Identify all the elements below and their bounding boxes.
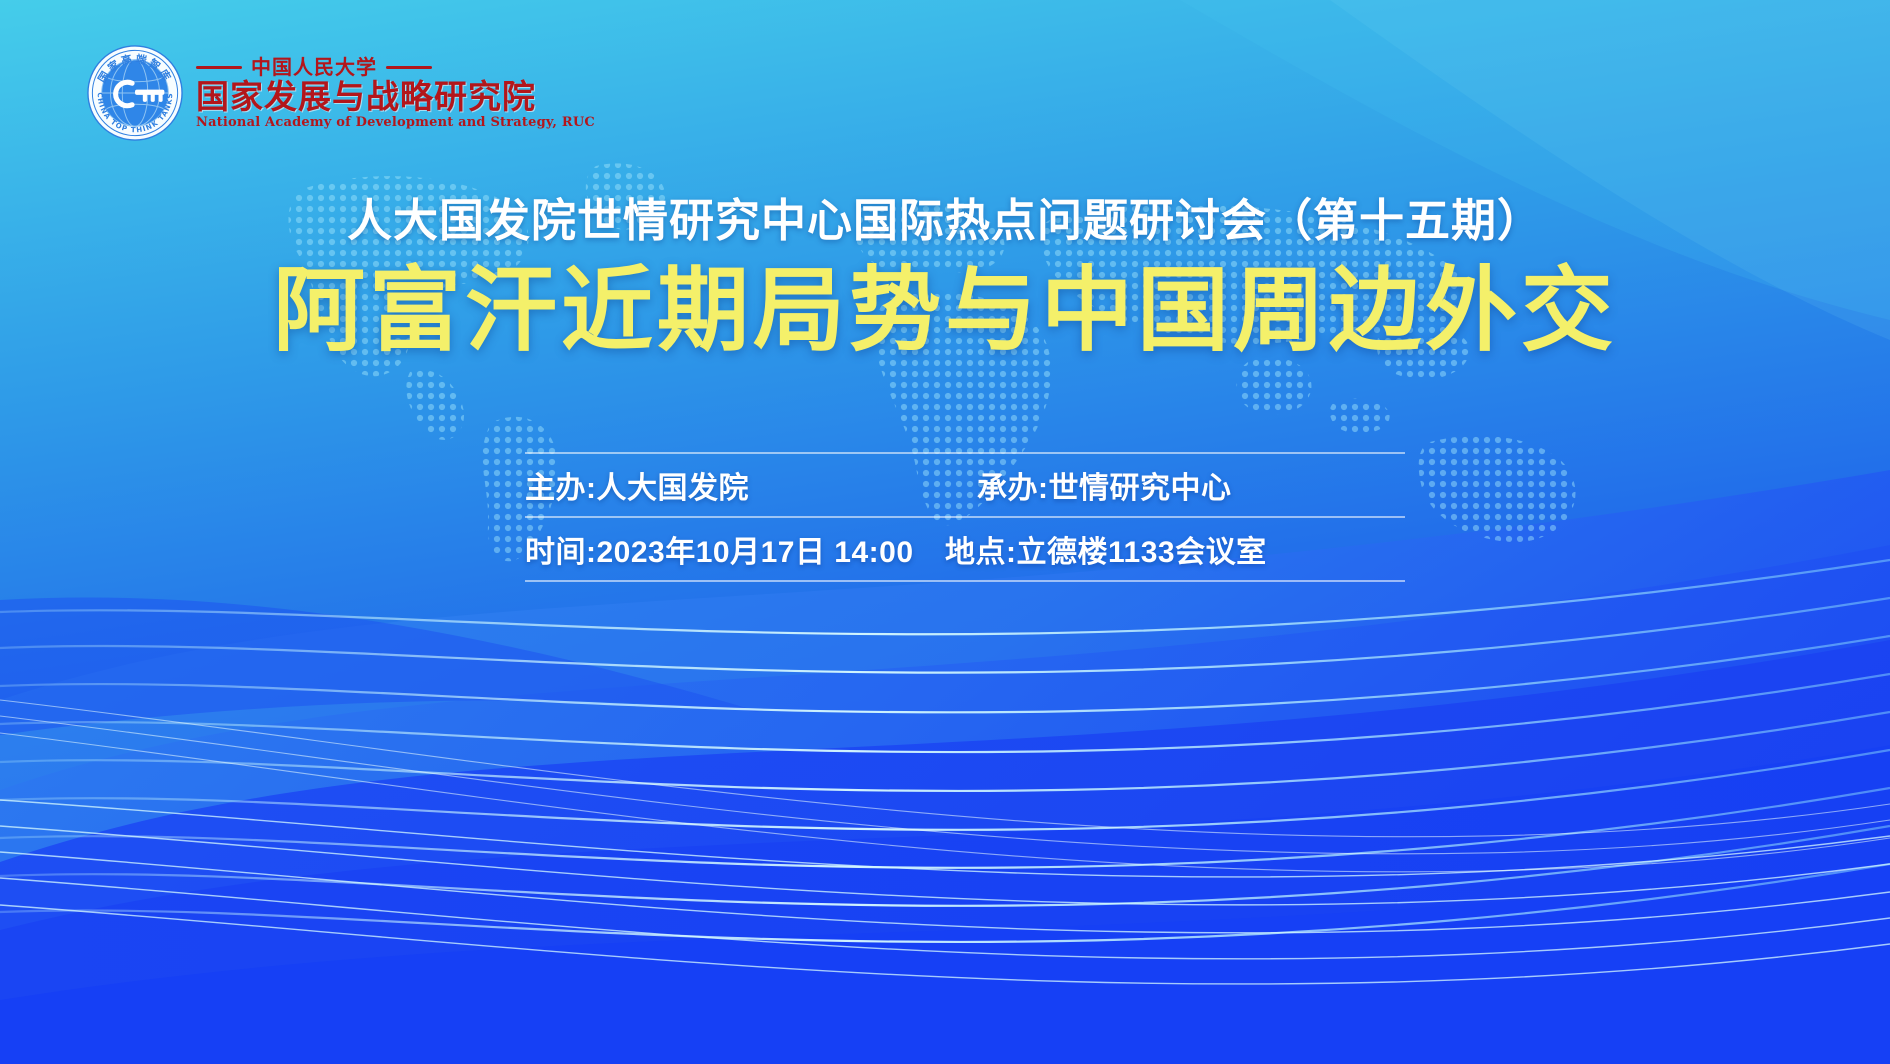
event-location: 地点:立德楼1133会议室 — [945, 527, 1405, 571]
page-title: 阿富汗近期局势与中国周边外交 — [0, 262, 1890, 361]
event-poster: 国家高端智库 CHINA TOP THINK TANKS 中国人民大学 国家发展… — [0, 0, 1890, 1064]
co-host-organization: 承办:世情研究中心 — [977, 463, 1405, 507]
logo-rule-right — [386, 66, 432, 69]
info-bottom-rule — [525, 580, 1405, 582]
series-title: 人大国发院世情研究中心国际热点问题研讨会（第十五期） — [0, 196, 1890, 246]
logo-rule-left — [196, 66, 242, 69]
logo-text-block: 中国人民大学 国家发展与战略研究院 National Academy of De… — [196, 57, 595, 129]
logo-university-name: 中国人民大学 — [251, 57, 377, 77]
logo-institute-name: 国家发展与战略研究院 — [196, 80, 595, 113]
organizers-row: 主办:人大国发院 承办:世情研究中心 — [525, 452, 1405, 518]
host-organization: 主办:人大国发院 — [525, 463, 977, 507]
logo-institute-name-en: National Academy of Development and Stra… — [196, 116, 595, 129]
event-time: 时间:2023年10月17日 14:00 — [525, 527, 945, 571]
headline-block: 人大国发院世情研究中心国际热点问题研讨会（第十五期） 阿富汗近期局势与中国周边外… — [0, 196, 1890, 361]
logo-university-line: 中国人民大学 — [196, 57, 595, 77]
china-top-think-tanks-emblem-icon: 国家高端智库 CHINA TOP THINK TANKS — [86, 44, 184, 142]
time-location-row: 时间:2023年10月17日 14:00 地点:立德楼1133会议室 — [525, 518, 1405, 580]
event-details: 主办:人大国发院 承办:世情研究中心 时间:2023年10月17日 14:00 … — [525, 452, 1405, 582]
organization-logo: 国家高端智库 CHINA TOP THINK TANKS 中国人民大学 国家发展… — [86, 44, 595, 142]
